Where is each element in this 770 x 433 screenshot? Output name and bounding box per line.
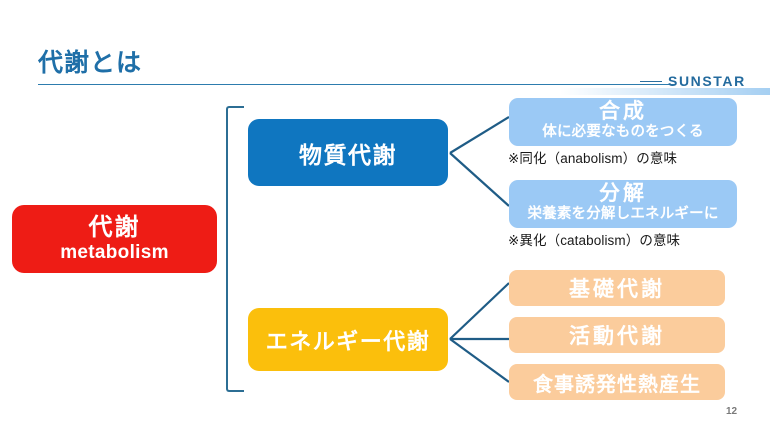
node-basal-metabolism: 基礎代謝 [509,270,725,306]
node-synthesis: 合成 体に必要なものをつくる [509,98,737,146]
node-activity-metabolism: 活動代謝 [509,317,725,353]
note-anabolism: ※同化（anabolism）の意味 [508,147,677,167]
node-diet-induced-thermogenesis: 食事誘発性熱産生 [509,364,725,400]
slide-canvas: 代謝とは SUNSTAR 代謝 metabolism 物質代謝 エネルギー代謝 … [0,0,770,433]
brand-rule [640,81,662,82]
group-bracket [226,106,244,392]
sunstar-logo: SUNSTAR [668,73,746,89]
node-decomposition-sub: 栄養素を分解しエネルギーに [509,206,737,223]
node-material-metabolism: 物質代謝 [248,119,448,186]
node-metabolism-en-label: metabolism [60,243,169,263]
node-synthesis-head: 合成 [509,100,737,124]
page-number: 12 [726,406,737,417]
page-title: 代謝とは [38,43,142,79]
node-decomposition: 分解 栄養素を分解しエネルギーに [509,180,737,228]
node-synthesis-sub: 体に必要なものをつくる [509,124,737,141]
title-divider [38,84,676,85]
node-metabolism-jp-label: 代謝 [89,215,141,240]
node-metabolism-root: 代謝 metabolism [12,205,217,273]
note-catabolism: ※異化（catabolism）の意味 [508,229,680,249]
header-accent-bar [560,88,770,95]
node-decomposition-head: 分解 [509,182,737,206]
node-energy-metabolism: エネルギー代謝 [248,308,448,371]
